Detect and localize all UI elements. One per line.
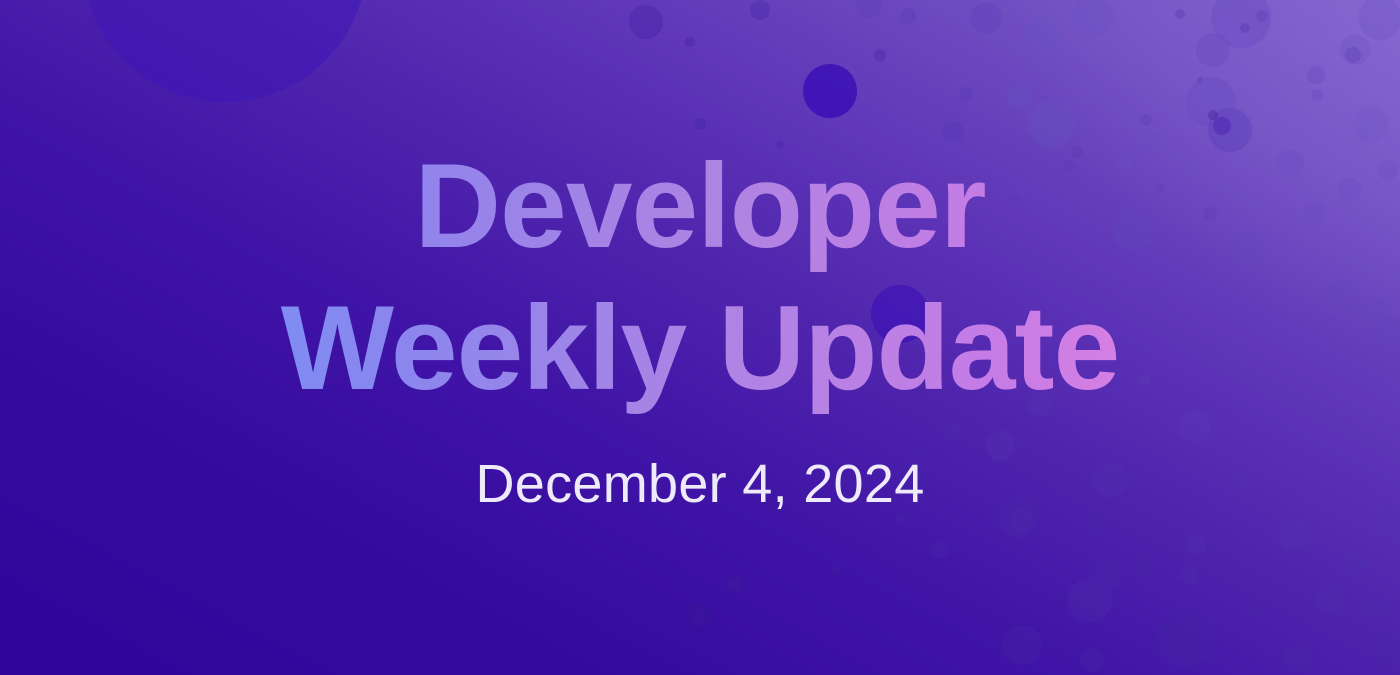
slide-content: Developer Weekly Update December 4, 2024 [0,0,1400,675]
subtitle-date: December 4, 2024 [475,453,924,515]
title-slide: Developer Weekly Update December 4, 2024 [0,0,1400,675]
title-line-2: Weekly Update [281,278,1119,420]
title-line-1: Developer [281,136,1119,278]
page-title: Developer Weekly Update [281,136,1119,419]
